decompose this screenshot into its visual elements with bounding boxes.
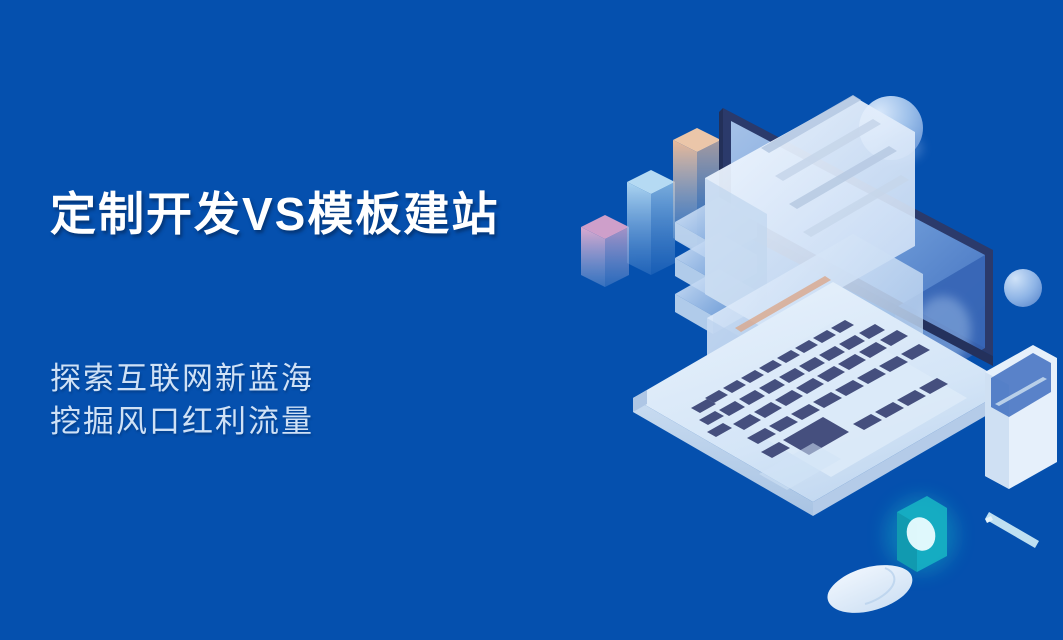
subhead-line-2: 挖掘风口红利流量 (50, 401, 314, 444)
subhead-line-1: 探索互联网新蓝海 (50, 358, 314, 401)
stylus-icon (985, 512, 1039, 548)
subhead-block: 探索互联网新蓝海 挖掘风口红利流量 (50, 358, 314, 444)
isometric-laptop-illustration (523, 0, 1063, 640)
promo-banner: 定制开发VS模板建站 探索互联网新蓝海 挖掘风口红利流量 (0, 0, 1063, 640)
mouse-icon (827, 565, 912, 613)
teal-cube-icon (885, 496, 957, 573)
page-title: 定制开发VS模板建站 (50, 185, 570, 244)
tablet-icon (985, 345, 1057, 489)
headline-block: 定制开发VS模板建站 (50, 185, 570, 244)
sphere-small-icon (1004, 269, 1042, 307)
